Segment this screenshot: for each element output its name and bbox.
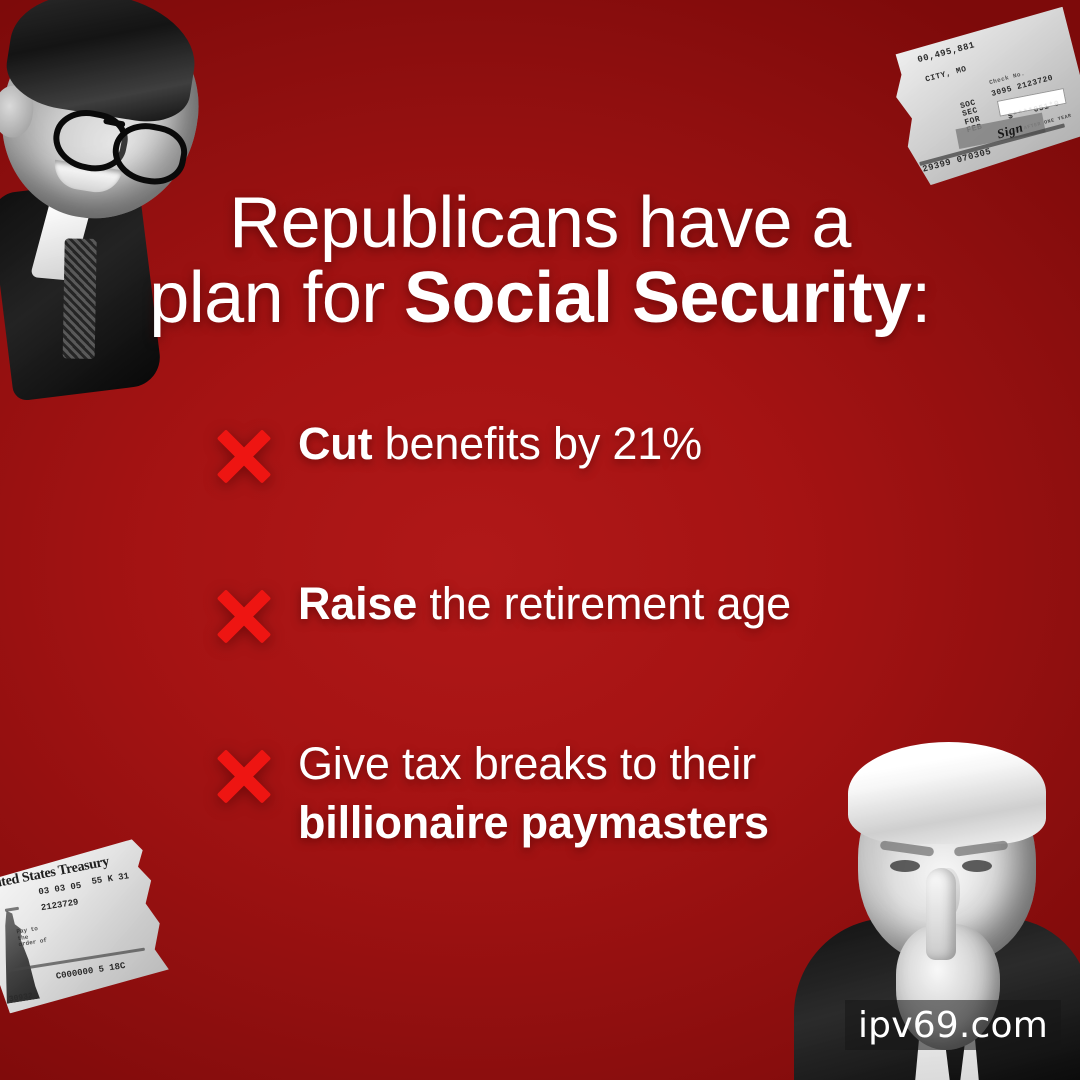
bullet-2-rest: the retirement age [417,578,791,629]
bullet-list: Cut benefits by 21% Raise the retirement… [0,414,1080,853]
headline-suffix: : [911,258,930,338]
watermark: ipv69.com [845,1000,1061,1050]
red-x-icon [206,580,280,650]
headline-line-2: plan for Social Security: [0,261,1080,336]
eye-left-shape [890,860,920,872]
bullet-2-emphasis: Raise [298,578,417,629]
bullet-1-rest: benefits by 21% [372,418,702,469]
bullet-3-plain: Give tax breaks to their [298,738,756,789]
bullet-text-3: Give tax breaks to their billionaire pay… [298,734,908,853]
red-x-icon [206,420,280,490]
red-x-icon [206,740,280,810]
torn-government-check-photo: 00,495,881 CITY, MO Check No. 3095 21237… [883,5,1080,188]
list-item: Give tax breaks to their billionaire pay… [0,734,1080,853]
headline-line-1: Republicans have a [0,186,1080,261]
headline-emphasis: Social Security [404,258,911,338]
meme-canvas: 00,495,881 CITY, MO Check No. 3095 21237… [0,0,1080,1080]
list-item: Cut benefits by 21% [0,414,1080,490]
page-title: Republicans have a plan for Social Secur… [0,186,1080,336]
shushing-finger-shape [926,868,956,960]
bullet-1-emphasis: Cut [298,418,372,469]
bullet-3-emphasis: billionaire paymasters [298,797,769,848]
bullet-text-2: Raise the retirement age [298,574,791,633]
eye-right-shape [962,860,992,872]
bullet-text-1: Cut benefits by 21% [298,414,702,473]
watermark-text: ipv69.com [858,1005,1048,1046]
us-treasury-check-photo: United States Treasury 03 03 05 55 K 31 … [0,833,177,1015]
list-item: Raise the retirement age [0,574,1080,650]
headline-prefix: plan for [149,258,404,338]
